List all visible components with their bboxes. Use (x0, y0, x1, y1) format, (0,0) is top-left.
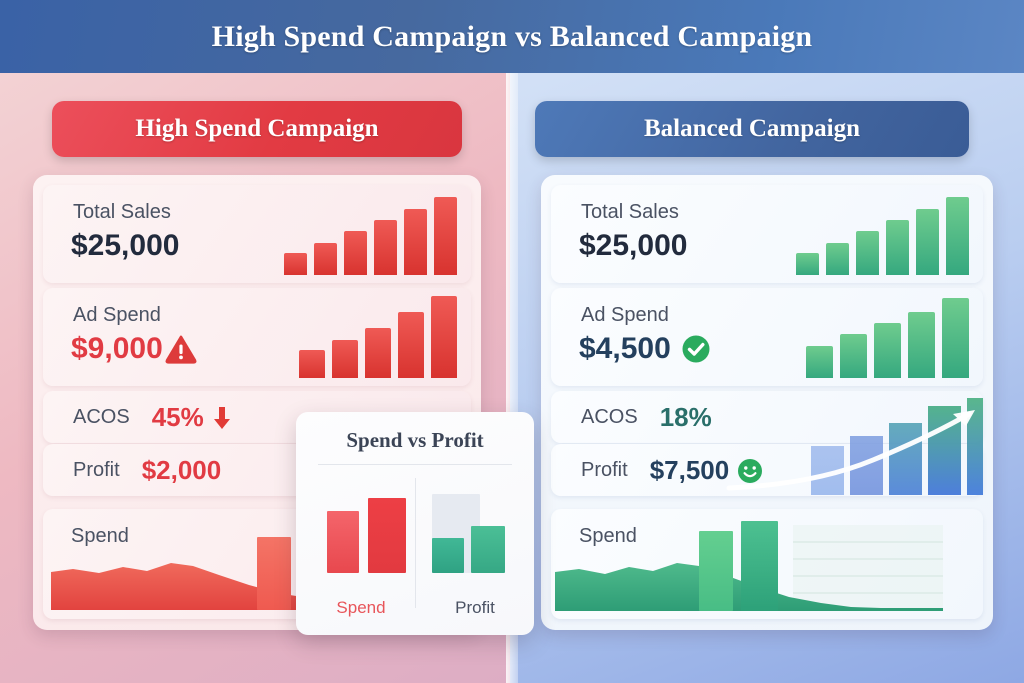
right-acos-inline: ACOS 18% (581, 402, 712, 433)
left-profit-label: Profit (73, 459, 120, 482)
right-total-sales-bars (796, 197, 969, 275)
balanced-campaign-label: Balanced Campaign (644, 115, 860, 143)
right-spend-label: Spend (579, 525, 637, 548)
right-ad-spend-bars (806, 298, 969, 378)
right-total-sales-label: Total Sales (581, 201, 679, 224)
spend-vs-profit-card[interactable]: Spend vs Profit (296, 412, 534, 635)
right-ad-spend-value-wrap: $4,500 (579, 332, 711, 366)
left-acos-value-wrap: 45% (152, 402, 232, 433)
right-ad-spend-row[interactable]: Ad Spend $4,500 (551, 288, 983, 386)
right-acos-row[interactable]: ACOS 18% (551, 391, 983, 443)
left-total-sales-bars (284, 197, 457, 275)
page-header: High Spend Campaign vs Balanced Campaign (0, 0, 1024, 73)
spend-vs-profit-chart (296, 472, 534, 612)
balanced-campaign-chip[interactable]: Balanced Campaign (535, 101, 969, 157)
left-acos-inline: ACOS 45% (73, 402, 232, 433)
right-metric-stack: Total Sales $25,000 Ad Spend $4,500 (541, 175, 993, 630)
right-ad-spend-label: Ad Spend (581, 304, 669, 327)
right-profit-row[interactable]: Profit $7,500 (551, 444, 983, 496)
left-total-sales-label: Total Sales (73, 201, 171, 224)
left-profit-inline: Profit $2,000 (73, 455, 221, 486)
profit-legend-label: Profit (420, 598, 530, 618)
warning-triangle-icon (165, 334, 197, 364)
left-profit-value: $2,000 (142, 455, 222, 486)
right-total-sales-value: $25,000 (579, 229, 687, 263)
left-ad-spend-value-wrap: $9,000 (71, 332, 197, 366)
right-spend-card[interactable]: Spend (551, 509, 983, 619)
right-profit-label: Profit (581, 459, 628, 482)
spend-legend-label: Spend (306, 598, 416, 618)
right-acos-label: ACOS (581, 406, 638, 429)
left-ad-spend-bars (299, 296, 457, 378)
page-title: High Spend Campaign vs Balanced Campaign (212, 20, 813, 54)
right-profit-value-wrap: $7,500 (650, 455, 764, 486)
down-arrow-icon (212, 406, 232, 430)
left-total-sales-value: $25,000 (71, 229, 179, 263)
left-total-sales-row[interactable]: Total Sales $25,000 (43, 185, 471, 283)
right-profit-inline: Profit $7,500 (581, 455, 763, 486)
right-acos-value: 18% (660, 402, 712, 433)
right-profit-value: $7,500 (650, 455, 730, 486)
card-divider (318, 464, 512, 465)
left-acos-value: 45% (152, 402, 204, 433)
left-ad-spend-label: Ad Spend (73, 304, 161, 327)
smiley-face-icon (737, 458, 763, 484)
infographic-root: High Spend Campaign vs Balanced Campaign… (0, 0, 1024, 683)
right-ad-spend-value: $4,500 (579, 332, 671, 366)
left-ad-spend-value: $9,000 (71, 332, 163, 366)
check-circle-icon (681, 334, 711, 364)
high-spend-campaign-chip[interactable]: High Spend Campaign (52, 101, 462, 157)
spend-vs-profit-title: Spend vs Profit (296, 428, 534, 453)
left-acos-label: ACOS (73, 406, 130, 429)
left-spend-label: Spend (71, 525, 129, 548)
left-ad-spend-row[interactable]: Ad Spend $9,000 (43, 288, 471, 386)
right-total-sales-row[interactable]: Total Sales $25,000 (551, 185, 983, 283)
high-spend-campaign-label: High Spend Campaign (135, 115, 378, 143)
